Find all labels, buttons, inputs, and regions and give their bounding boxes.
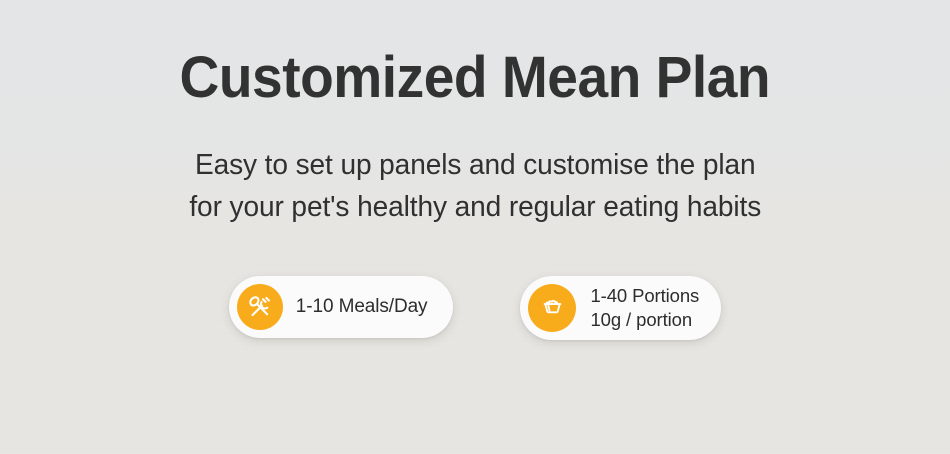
promo-banner: Customized Mean Plan Easy to set up pane…: [0, 0, 950, 454]
badge-meals-per-day[interactable]: 1-10 Meals/Day: [229, 276, 454, 338]
banner-subtitle-line-2: for your pet's healthy and regular eatin…: [189, 187, 761, 229]
badge-portions-line-1: 1-40 Portions: [590, 284, 699, 308]
badge-portions[interactable]: 1-40 Portions 10g / portion: [520, 276, 721, 340]
badge-meals-label: 1-10 Meals/Day: [296, 295, 428, 319]
badge-row: 1-10 Meals/Day: [229, 276, 721, 340]
pet-bowl-icon: [528, 284, 576, 332]
page-title: Customized Mean Plan: [180, 49, 771, 107]
banner-content: Customized Mean Plan Easy to set up pane…: [0, 0, 950, 454]
badge-meals-line-1: 1-10 Meals/Day: [296, 295, 428, 319]
banner-subtitle: Easy to set up panels and customise the …: [189, 145, 761, 229]
badge-portions-line-2: 10g / portion: [590, 308, 699, 332]
cutlery-icon: [237, 284, 283, 330]
banner-subtitle-line-1: Easy to set up panels and customise the …: [189, 145, 761, 187]
badge-portions-label: 1-40 Portions 10g / portion: [590, 284, 699, 331]
